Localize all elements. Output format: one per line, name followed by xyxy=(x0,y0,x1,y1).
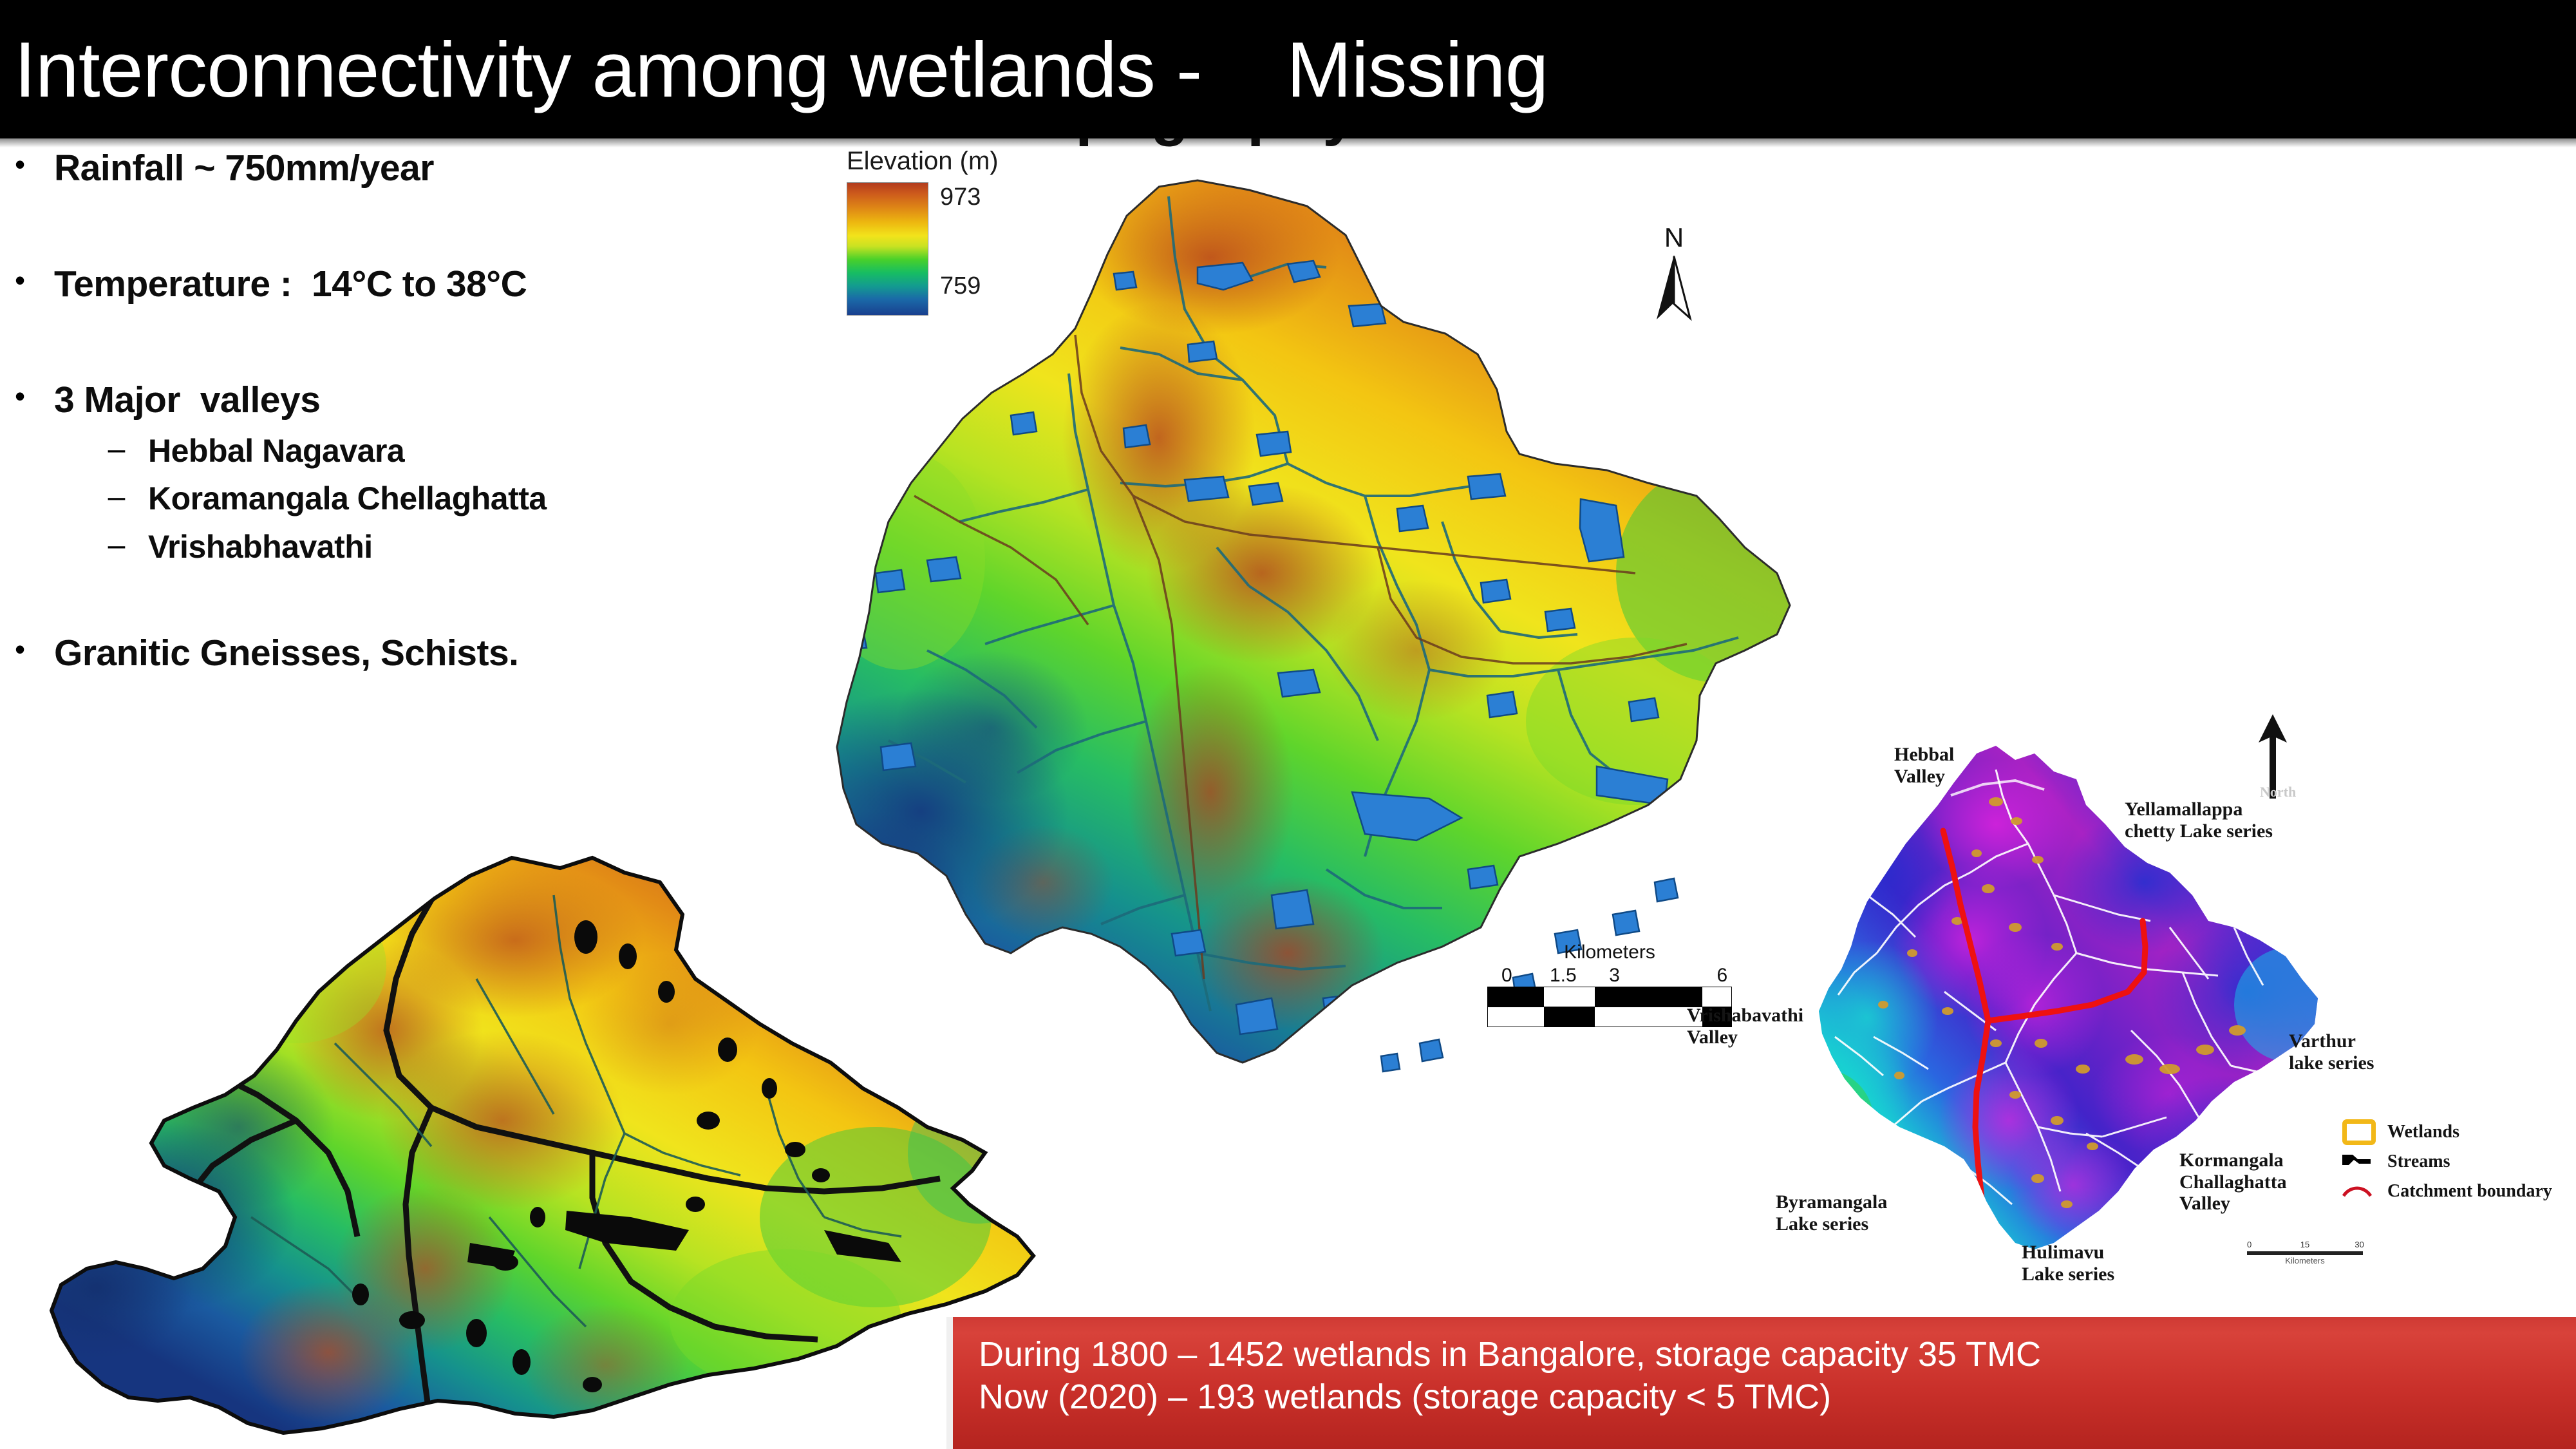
label-hulimavu-lake-series: Hulimavu Lake series xyxy=(2022,1242,2114,1285)
legend-label-streams: Streams xyxy=(2387,1151,2450,1172)
label-hebbal-valley: Hebbal Valley xyxy=(1894,744,1954,787)
legend-label-catchment-boundary: Catchment boundary xyxy=(2387,1181,2552,1202)
bullet-text: Vrishabhavathi xyxy=(148,530,373,564)
secondary-elevation-map-svg xyxy=(26,818,1056,1449)
bullet-text: Granitic Gneisses, Schists. xyxy=(54,634,519,673)
title-bar: Interconnectivity among wetlands - Missi… xyxy=(0,0,2576,138)
scale-tick-0: 0 xyxy=(1501,965,1512,987)
scale-tick-3: 3 xyxy=(1609,965,1620,987)
bullet-subitem-hebbal-nagavara: – Hebbal Nagavara xyxy=(0,434,831,468)
page-title: Interconnectivity among wetlands - Missi… xyxy=(14,12,1548,128)
elevation-tick-labels: 973 759 xyxy=(928,182,1057,316)
bullet-marker: • xyxy=(0,149,40,179)
bullet-item-rainfall: • Rainfall ~ 750mm/year xyxy=(0,149,831,188)
elevation-color-ramp xyxy=(847,182,928,316)
legend-row-catchment-boundary: Catchment boundary xyxy=(2342,1177,2552,1206)
catchment-boundary-icon xyxy=(2342,1186,2372,1197)
label-varthur-lake-series: Varthur lake series xyxy=(2289,1030,2374,1074)
spacer xyxy=(0,304,831,381)
spacer xyxy=(0,188,831,265)
scale-bar-valley: 0 15 30 Kilometers xyxy=(2247,1240,2363,1265)
dash-marker: – xyxy=(97,530,136,561)
north-arrow-valley-label: North xyxy=(2260,784,2296,800)
north-arrow-main: N xyxy=(1635,224,1713,327)
bullet-marker: • xyxy=(0,634,40,664)
bullet-subitem-koramangala-chellaghatta: – Koramangala Chellaghatta xyxy=(0,482,831,516)
wetlands-swatch xyxy=(2342,1119,2387,1145)
banner-line-2: Now (2020) – 193 wetlands (storage capac… xyxy=(979,1376,2576,1419)
scale-bar-units: Kilometers xyxy=(1487,942,1732,963)
label-yellamallappa-lake-series: Yellamallappa chetty Lake series xyxy=(2125,799,2273,842)
valley-map-legend: Wetlands Streams Catchment boundary xyxy=(2342,1117,2552,1206)
scale-valley-tick-0: 0 xyxy=(2247,1240,2252,1249)
north-arrow-label: N xyxy=(1635,224,1713,251)
scale-tick-1.5: 1.5 xyxy=(1550,965,1577,987)
bullet-text: 3 Major valleys xyxy=(54,381,320,420)
elevation-legend: Elevation (m) 973 759 xyxy=(847,147,1057,316)
scale-bar-valley-bar xyxy=(2247,1251,2363,1255)
bullet-marker: • xyxy=(0,381,40,411)
bullet-subitem-vrishabhavathi: – Vrishabhavathi xyxy=(0,530,831,564)
legend-label-wetlands: Wetlands xyxy=(2387,1122,2459,1142)
label-vrishabavathi-valley: Vrishabavathi Valley xyxy=(1687,1005,1803,1048)
secondary-elevation-map xyxy=(26,818,1056,1449)
title-bar-shadow xyxy=(0,138,2576,147)
bullet-text: Rainfall ~ 750mm/year xyxy=(54,149,434,188)
legend-row-wetlands: Wetlands xyxy=(2342,1117,2552,1147)
bullet-text: Temperature : 14°C to 38°C xyxy=(54,265,527,304)
bullet-list: • Rainfall ~ 750mm/year • Temperature : … xyxy=(0,149,831,673)
scale-bar-valley-ticks: 0 15 30 xyxy=(2247,1240,2363,1250)
bullet-item-geology: • Granitic Gneisses, Schists. xyxy=(0,634,831,673)
north-arrow-valley: North xyxy=(2253,712,2292,805)
bullet-text: Hebbal Nagavara xyxy=(148,434,404,468)
summary-banner: During 1800 – 1452 wetlands in Bangalore… xyxy=(946,1317,2576,1449)
bullet-item-temperature: • Temperature : 14°C to 38°C xyxy=(0,265,831,304)
bullet-item-valleys: • 3 Major valleys xyxy=(0,381,831,420)
elevation-min-label: 759 xyxy=(940,272,981,300)
legend-row-streams: Streams xyxy=(2342,1147,2552,1177)
elevation-legend-title: Elevation (m) xyxy=(847,147,1057,176)
bullet-text: Koramangala Chellaghatta xyxy=(148,482,547,516)
spacer xyxy=(0,563,831,634)
elevation-max-label: 973 xyxy=(940,184,981,211)
label-kormangala-challaghatta-valley: Kormangala Challaghatta Valley xyxy=(2179,1150,2287,1215)
streams-swatch xyxy=(2342,1153,2387,1170)
catchment-boundary-swatch xyxy=(2342,1186,2387,1197)
streams-icon xyxy=(2342,1153,2371,1170)
bullet-marker: • xyxy=(0,265,40,295)
scale-bar-ticks: 0 1.5 3 6 xyxy=(1487,965,1732,987)
north-arrow-icon xyxy=(1651,252,1697,323)
banner-line-1: During 1800 – 1452 wetlands in Bangalore… xyxy=(979,1334,2576,1376)
scale-tick-6: 6 xyxy=(1716,965,1727,987)
dash-marker: – xyxy=(97,482,136,513)
dash-marker: – xyxy=(97,434,136,465)
scale-bar-valley-units: Kilometers xyxy=(2247,1256,2363,1265)
scale-valley-tick-15: 15 xyxy=(2300,1240,2309,1249)
label-byramangala-lake-series: Byramangala Lake series xyxy=(1776,1191,1887,1235)
scale-valley-tick-30: 30 xyxy=(2355,1240,2364,1249)
